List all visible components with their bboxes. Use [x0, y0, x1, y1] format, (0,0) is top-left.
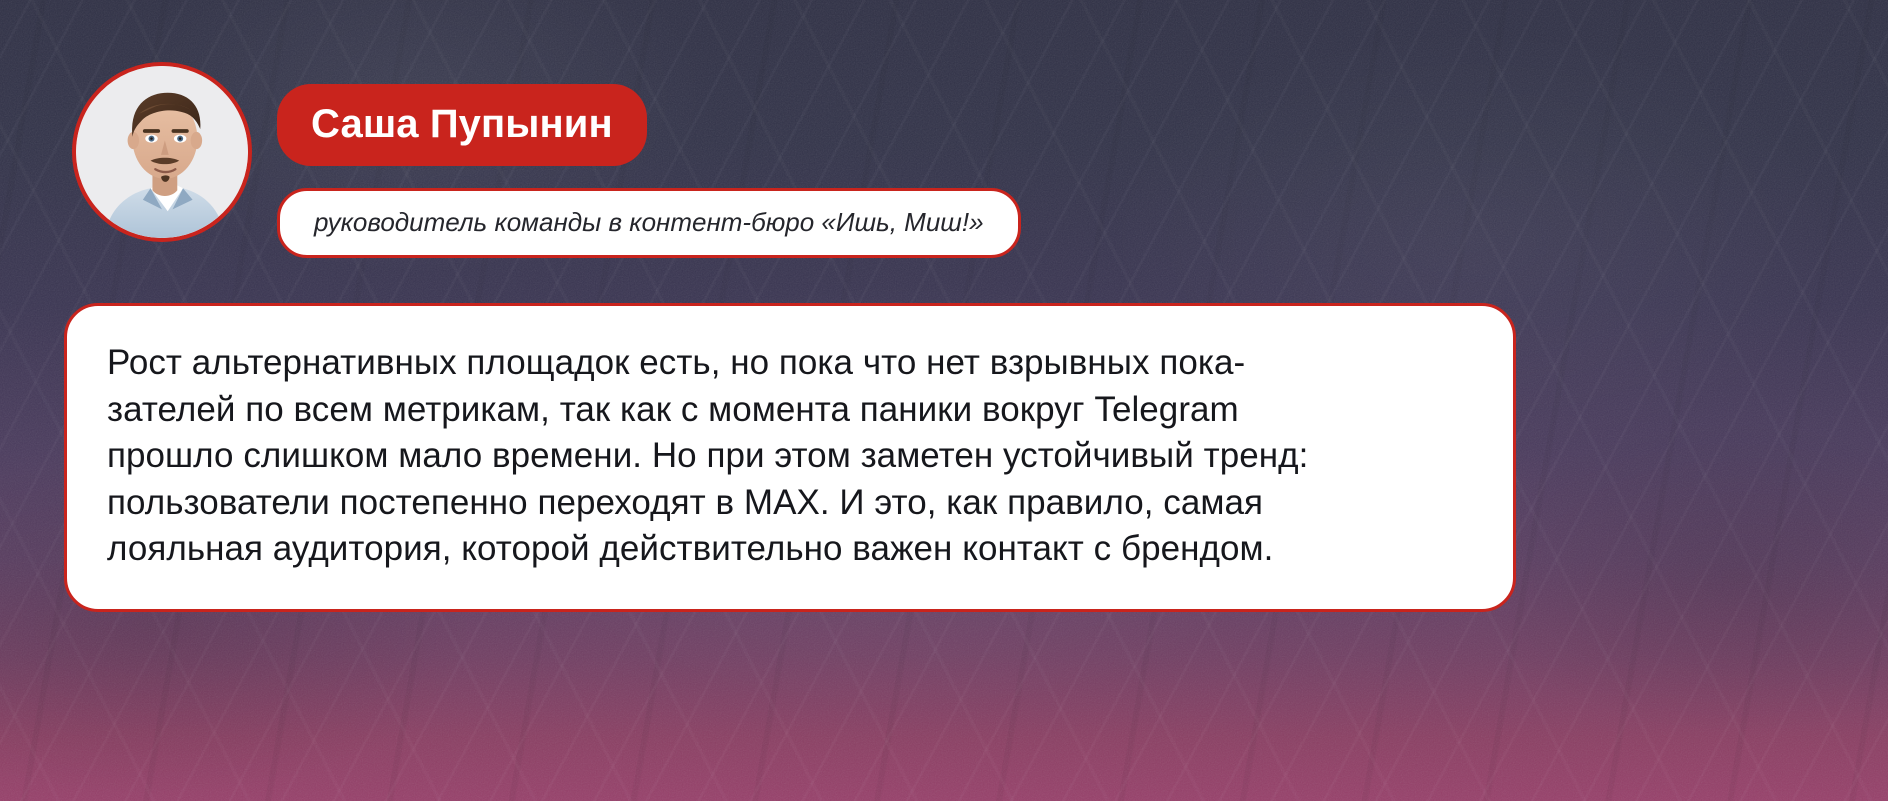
speaker-text-group: Саша Пупынин руководитель команды в конт… [277, 62, 1021, 258]
speaker-name-badge: Саша Пупынин [277, 84, 647, 166]
speaker-header: Саша Пупынин руководитель команды в конт… [72, 62, 1021, 258]
quote-box: Рост альтернативных площадок есть, но по… [64, 303, 1516, 612]
avatar [72, 62, 252, 242]
speaker-role-pill: руководитель команды в контент-бюро «Ишь… [277, 188, 1021, 258]
quote-card: Саша Пупынин руководитель команды в конт… [0, 0, 1888, 801]
quote-text: Рост альтернативных площадок есть, но по… [107, 340, 1473, 573]
